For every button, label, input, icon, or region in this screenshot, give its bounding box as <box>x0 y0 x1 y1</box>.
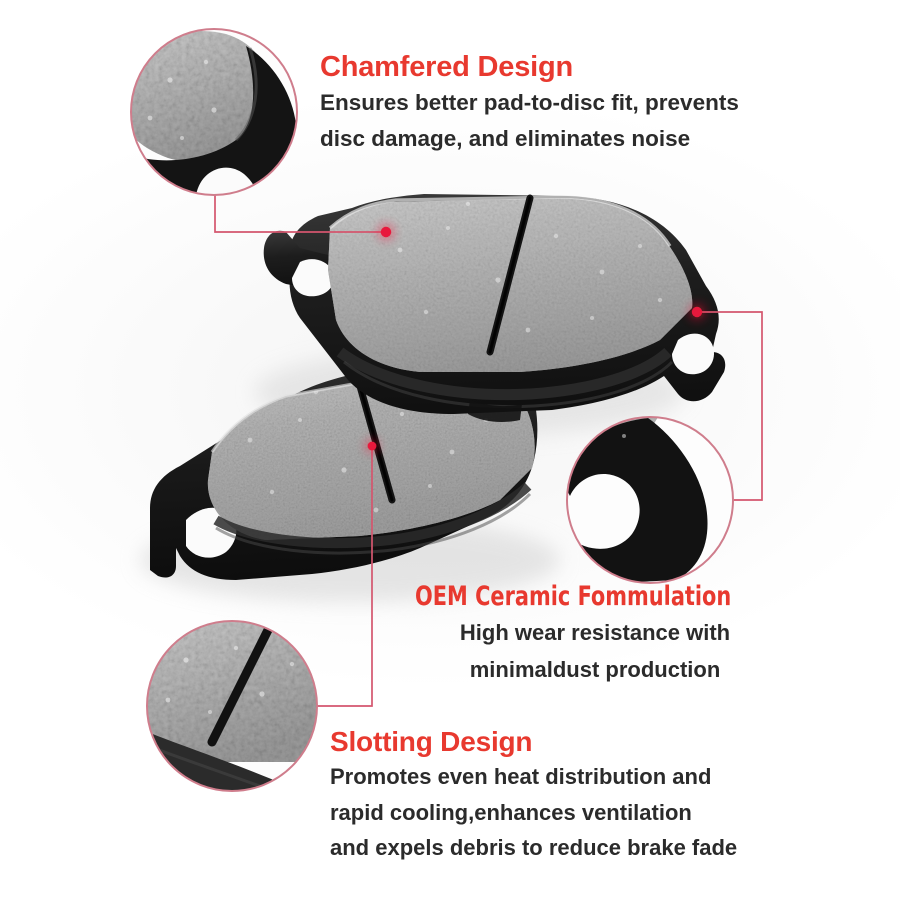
feature-line-slotting-1: Promotes even heat distribution and <box>330 762 737 791</box>
feature-block-slotting: Slotting Design Promotes even heat distr… <box>330 727 737 862</box>
leader-slotting <box>317 446 372 706</box>
marker-ear <box>692 307 702 317</box>
leader-chamfered <box>215 195 386 232</box>
callout-backing-closeup <box>556 414 737 587</box>
feature-line-oem-1: High wear resistance with <box>415 618 775 647</box>
feature-line-oem-2: minimaldust production <box>415 655 775 684</box>
marker-chamfer <box>381 227 391 237</box>
feature-line-chamfered-1: Ensures better pad-to-disc fit, prevents <box>320 88 739 118</box>
feature-heading-slotting: Slotting Design <box>330 727 737 756</box>
infographic-canvas: Chamfered Design Ensures better pad-to-d… <box>0 0 900 900</box>
feature-heading-chamfered: Chamfered Design <box>320 52 739 82</box>
feature-heading-oem: OEM Ceramic Fommulation <box>415 583 731 611</box>
feature-line-chamfered-2: disc damage, and eliminates noise <box>320 124 739 154</box>
feature-line-slotting-3: and expels debris to reduce brake fade <box>330 833 737 862</box>
marker-slot <box>368 442 377 451</box>
feature-block-oem: OEM Ceramic Fommulation High wear resist… <box>415 583 775 684</box>
callout-slot-closeup <box>138 612 330 800</box>
feature-block-chamfered: Chamfered Design Ensures better pad-to-d… <box>320 52 739 154</box>
feature-line-slotting-2: rapid cooling,enhances ventilation <box>330 798 737 827</box>
callout-chamfer-closeup <box>117 26 302 206</box>
